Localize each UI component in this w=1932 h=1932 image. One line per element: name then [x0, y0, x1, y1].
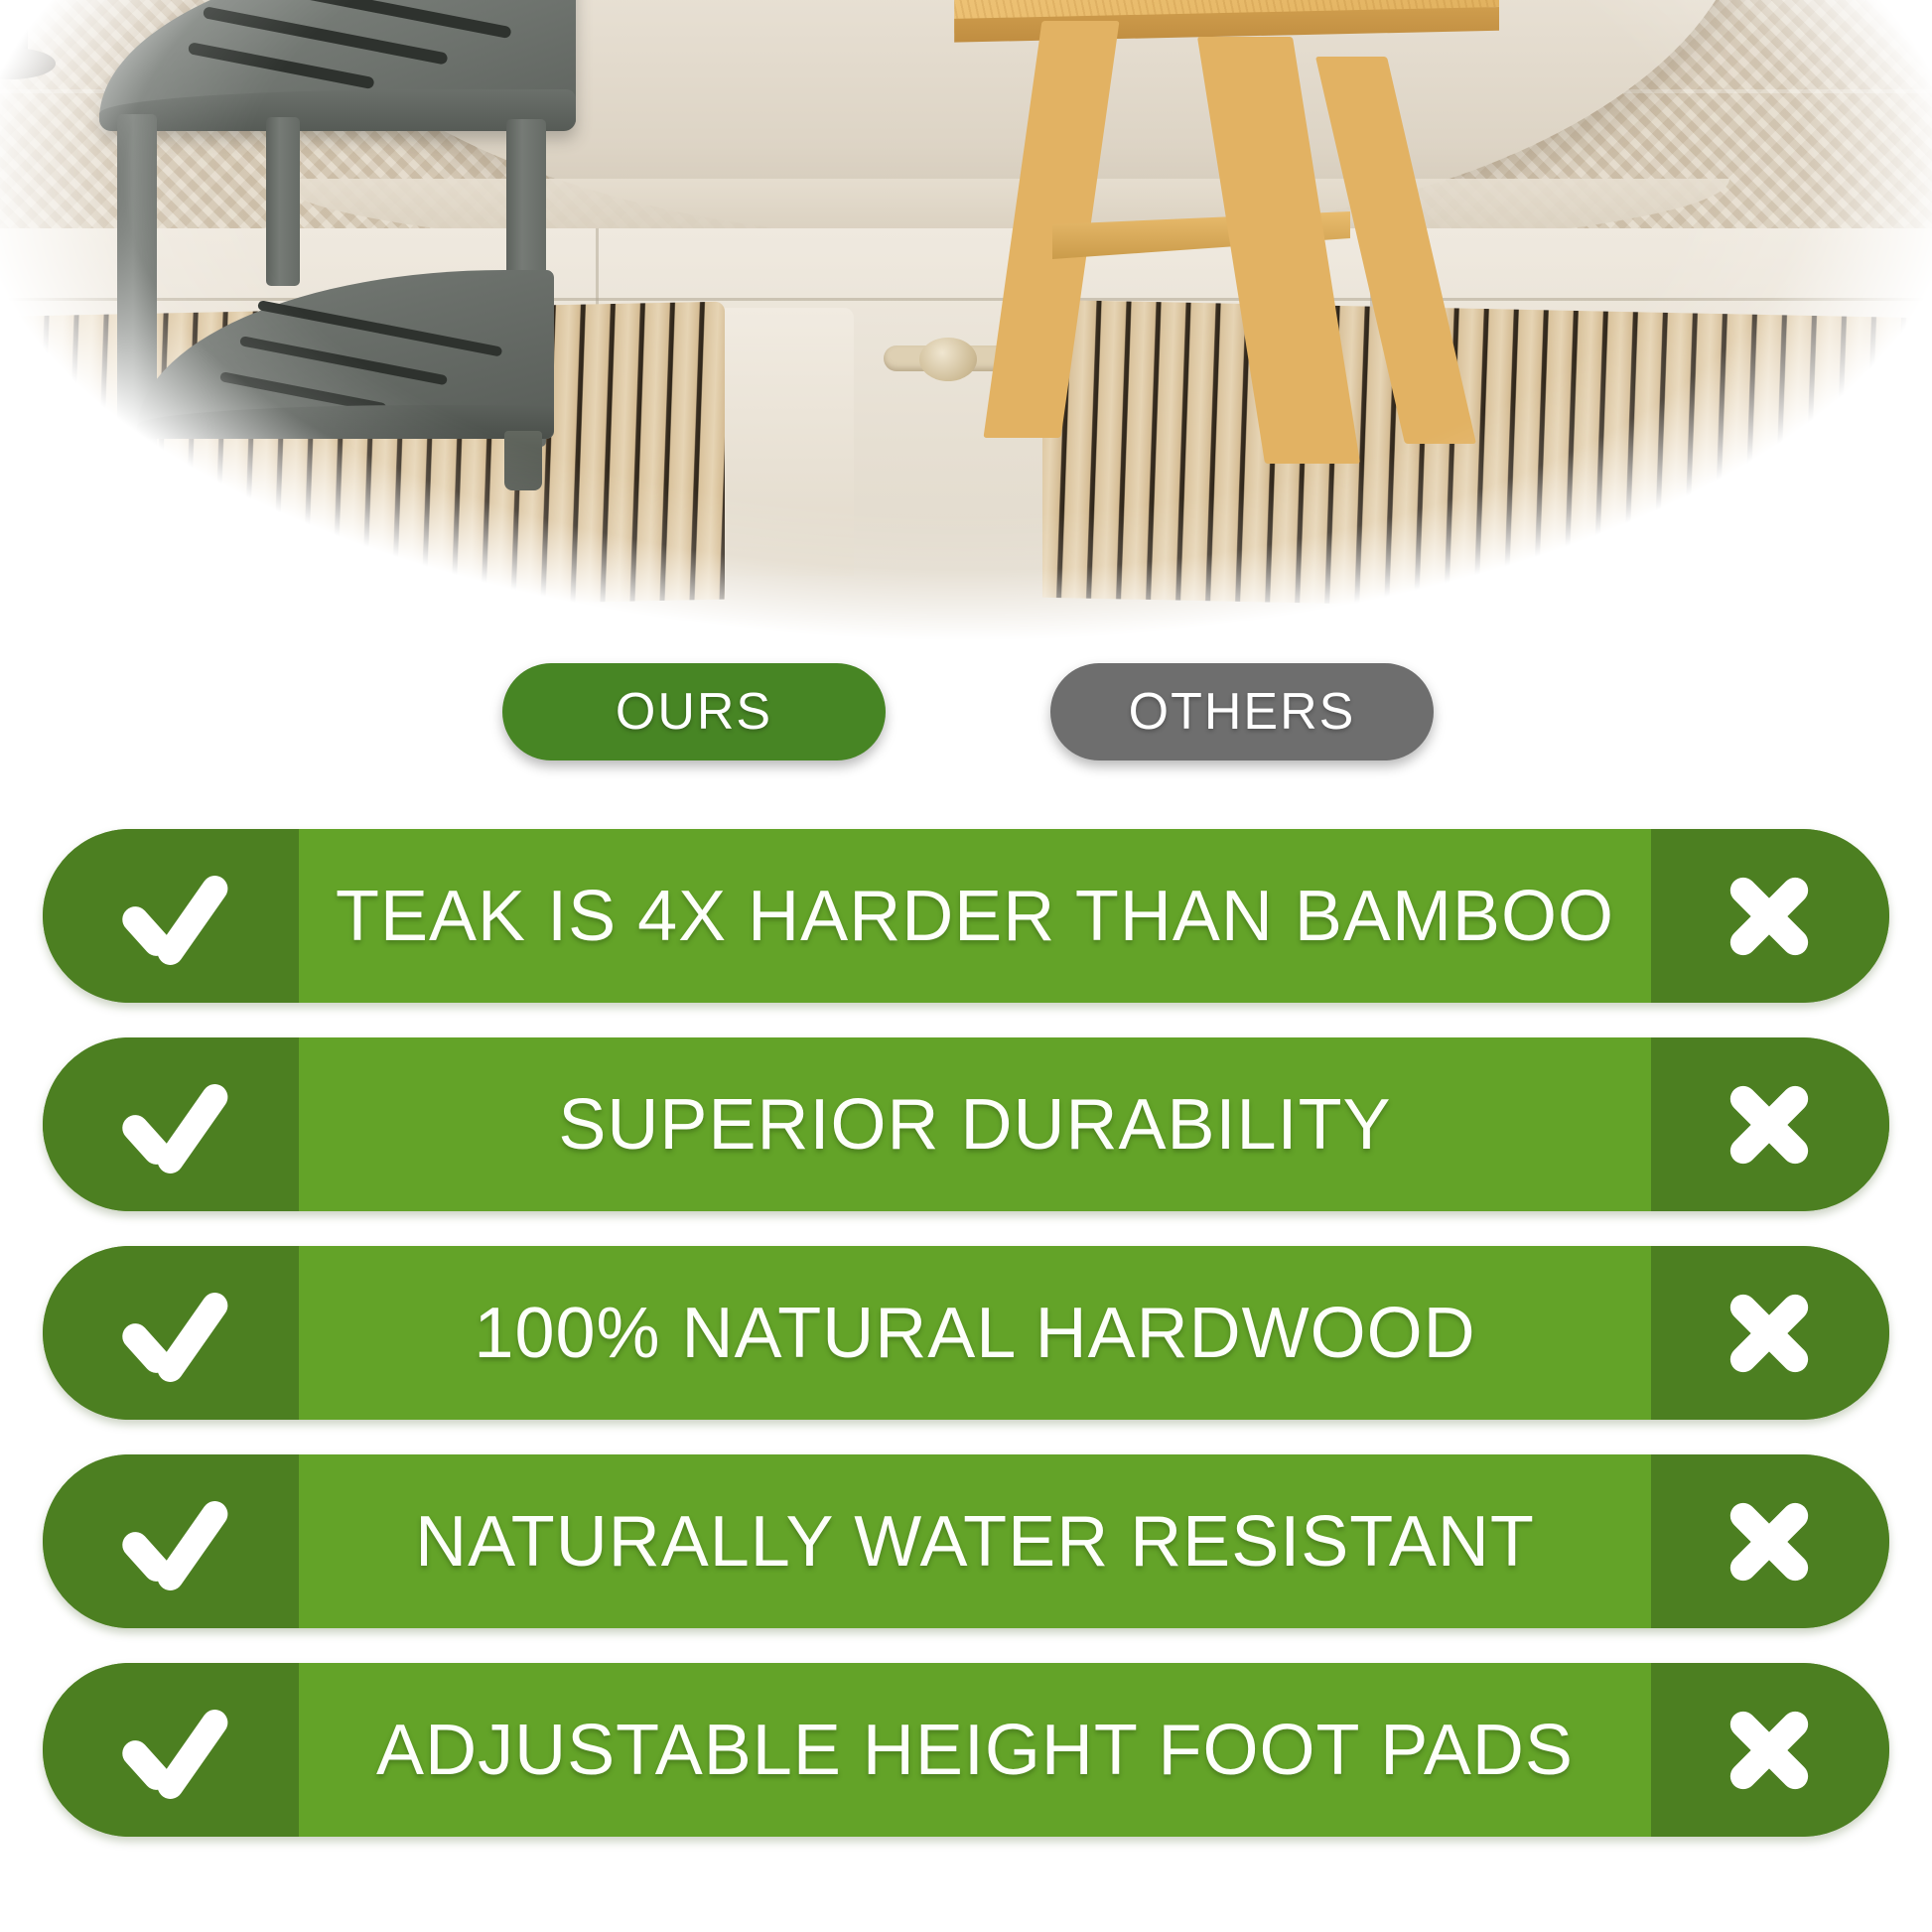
feature-label-cell: TEAK IS 4X HARDER THAN BAMBOO — [299, 829, 1651, 1003]
badge-others: OTHERS — [1050, 663, 1434, 760]
ours-cell — [43, 1663, 299, 1837]
comparison-row: 100% NATURAL HARDWOOD — [43, 1246, 1889, 1420]
x-icon — [1723, 869, 1818, 964]
others-cell — [1651, 1246, 1889, 1420]
comparison-row: SUPERIOR DURABILITY — [43, 1037, 1889, 1211]
comparison-rows: TEAK IS 4X HARDER THAN BAMBOO SUPERIOR D… — [0, 829, 1932, 1871]
hero-photo-area — [0, 0, 1932, 695]
feature-label-cell: 100% NATURAL HARDWOOD — [299, 1246, 1651, 1420]
comparison-row: NATURALLY WATER RESISTANT — [43, 1454, 1889, 1628]
x-icon — [1723, 1077, 1818, 1173]
comparison-row: ADJUSTABLE HEIGHT FOOT PADS — [43, 1663, 1889, 1837]
x-icon — [1723, 1286, 1818, 1381]
check-icon — [117, 871, 224, 962]
feature-label: NATURALLY WATER RESISTANT — [405, 1501, 1545, 1583]
x-icon — [1723, 1494, 1818, 1589]
feature-label: ADJUSTABLE HEIGHT FOOT PADS — [366, 1710, 1584, 1791]
comparison-badges: OURS OTHERS — [0, 663, 1932, 772]
feature-label: TEAK IS 4X HARDER THAN BAMBOO — [326, 876, 1624, 957]
x-icon — [1723, 1703, 1818, 1798]
ours-cell — [43, 829, 299, 1003]
feature-label-cell: NATURALLY WATER RESISTANT — [299, 1454, 1651, 1628]
comparison-infographic: OURS OTHERS TEAK IS 4X HARDER THAN BAMBO… — [0, 0, 1932, 1932]
teak-foot-pad — [117, 494, 155, 554]
others-cell — [1651, 829, 1889, 1003]
ours-cell — [43, 1037, 299, 1211]
ours-cell — [43, 1454, 299, 1628]
check-icon — [117, 1705, 224, 1796]
feature-label: 100% NATURAL HARDWOOD — [464, 1293, 1485, 1374]
teak-foot-pad — [504, 431, 542, 490]
floor-gap — [715, 308, 854, 576]
teak-corner-stool-product — [99, 0, 616, 556]
teak-leg — [266, 117, 300, 286]
bamboo-stool-product — [933, 0, 1549, 541]
badge-ours: OURS — [502, 663, 886, 760]
comparison-row: TEAK IS 4X HARDER THAN BAMBOO — [43, 829, 1889, 1003]
others-cell — [1651, 1037, 1889, 1211]
bathroom-scene — [0, 0, 1932, 695]
check-icon — [117, 1288, 224, 1379]
feature-label-cell: ADJUSTABLE HEIGHT FOOT PADS — [299, 1663, 1651, 1837]
check-icon — [117, 1079, 224, 1171]
teak-leg — [117, 114, 157, 511]
others-cell — [1651, 1454, 1889, 1628]
feature-label: SUPERIOR DURABILITY — [548, 1084, 1401, 1166]
others-cell — [1651, 1663, 1889, 1837]
ours-cell — [43, 1246, 299, 1420]
check-icon — [117, 1496, 224, 1587]
feature-label-cell: SUPERIOR DURABILITY — [299, 1037, 1651, 1211]
